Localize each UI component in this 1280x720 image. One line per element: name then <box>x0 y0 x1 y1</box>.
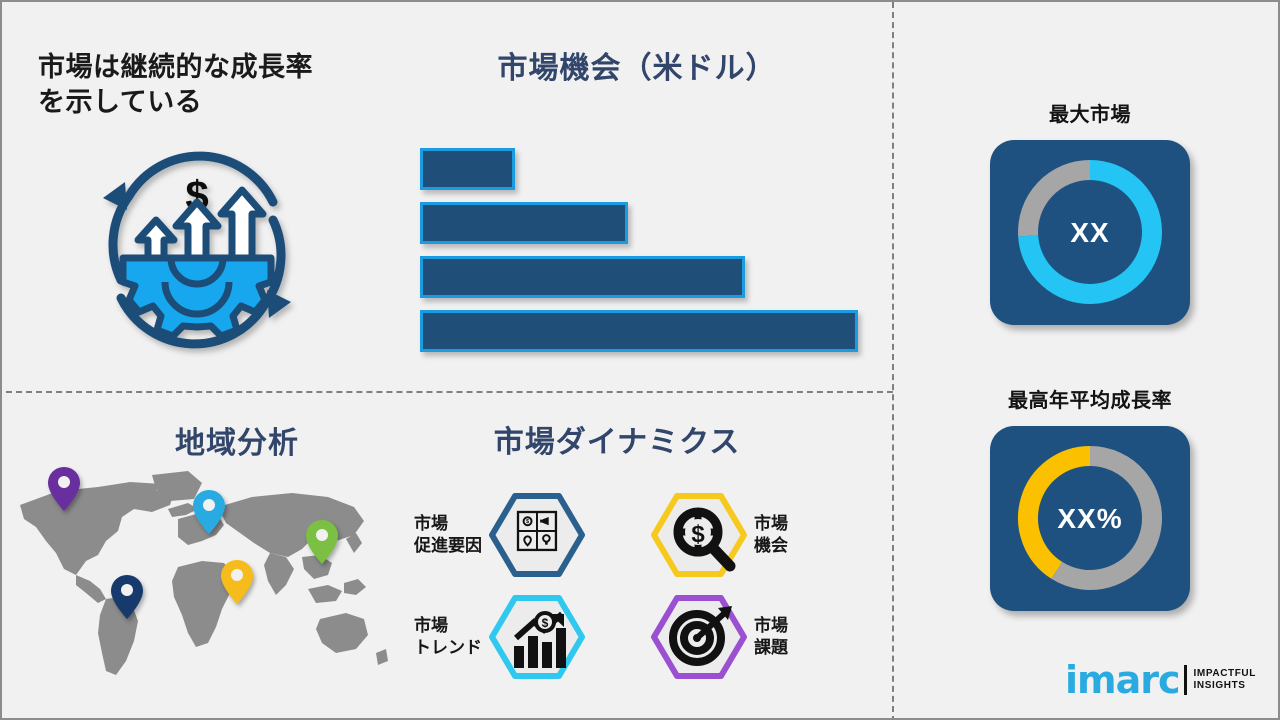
pin-south-america <box>110 574 144 620</box>
metric-card-largest-market: XX <box>990 140 1190 325</box>
target-arrow-icon <box>650 594 748 680</box>
dynamics-item-opportunities[interactable]: $ 市場 機会 <box>650 492 788 578</box>
dynamics-item-drivers[interactable]: 市場 促進要因 $ <box>414 492 586 578</box>
dynamics-item-label: 市場 促進要因 <box>414 513 482 558</box>
dynamics-item-label: 市場 機会 <box>754 513 788 558</box>
metric-card-title-0: 最大市場 <box>960 98 1220 127</box>
metric-card-title-1: 最高年平均成長率 <box>960 384 1220 413</box>
opportunity-panel-title: 市場機会（米ドル） <box>402 50 872 88</box>
vertical-divider <box>892 2 894 720</box>
slide-canvas: 市場は継続的な成長率 を示している $ <box>0 0 1280 720</box>
growth-cycle-gear-icon: $ <box>77 130 317 370</box>
magnifier-dollar-icon: $ <box>650 492 748 578</box>
metric-card-highest-cagr: XX% <box>990 426 1190 611</box>
dynamics-item-label: 市場 課題 <box>754 615 788 660</box>
bar-chart-growth-icon: $ <box>488 594 586 680</box>
dynamics-item-challenges[interactable]: 市場 課題 <box>650 594 788 680</box>
bar-3 <box>420 256 745 298</box>
growth-panel-title: 市場は継続的な成長率 を示している <box>38 50 388 119</box>
logo-divider <box>1184 665 1187 695</box>
pin-north-america <box>47 466 81 512</box>
imarc-logo: imarc IMPACTFUL INSIGHTS <box>1065 657 1265 703</box>
opportunity-bar-chart <box>420 148 880 358</box>
dynamics-panel-title: 市場ダイナミクス <box>412 424 822 462</box>
dynamics-item-trends[interactable]: 市場 トレンド $ <box>414 594 586 680</box>
puzzle-pieces-icon: $ <box>488 492 586 578</box>
metric-value: XX <box>990 140 1190 325</box>
pin-asia <box>305 519 339 565</box>
svg-text:$: $ <box>542 616 549 630</box>
bar-4 <box>420 310 858 352</box>
bar-2 <box>420 202 628 244</box>
dynamics-item-label: 市場 トレンド <box>414 615 482 660</box>
bar-1 <box>420 148 515 190</box>
world-map <box>2 457 402 692</box>
svg-text:$: $ <box>691 521 705 548</box>
pin-europe <box>192 489 226 535</box>
metric-value: XX% <box>990 426 1190 611</box>
horizontal-divider <box>6 391 893 393</box>
pin-middle-east <box>220 559 254 605</box>
logo-wordmark: imarc <box>1065 661 1180 699</box>
logo-tagline: IMPACTFUL INSIGHTS <box>1194 668 1256 693</box>
